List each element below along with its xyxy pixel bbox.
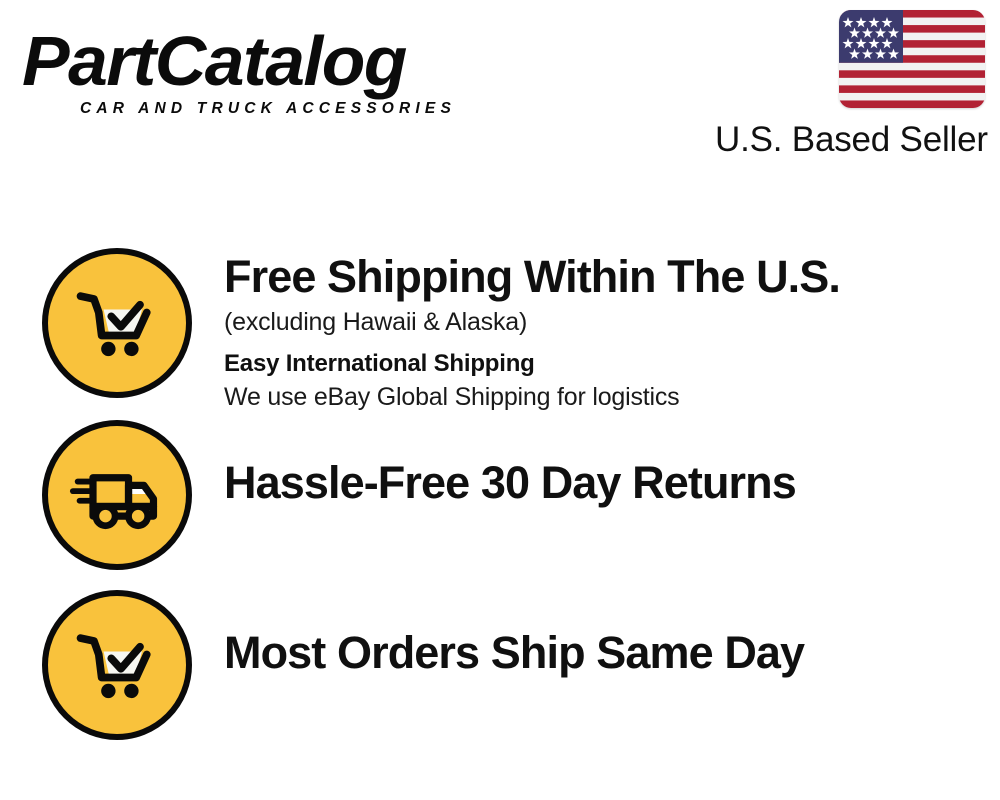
feature-text-block: Most Orders Ship Same Day: [192, 590, 1000, 680]
feature-text-block: Hassle-Free 30 Day Returns: [192, 420, 1000, 510]
feature-row: Most Orders Ship Same Day: [0, 590, 1000, 760]
feature-row: Free Shipping Within The U.S. (excluding…: [0, 248, 1000, 420]
feature-subtext: (excluding Hawaii & Alaska): [224, 304, 1000, 340]
shopping-cart-check-icon: [42, 590, 192, 740]
delivery-truck-icon: [42, 420, 192, 570]
us-based-seller-label: U.S. Based Seller: [715, 119, 985, 161]
partcatalog-logo: PartCatalog CAR AND TRUCK ACCESSORIES: [22, 24, 492, 119]
feature-subtext-secondary: We use eBay Global Shipping for logistic…: [224, 380, 1000, 414]
shopping-cart-check-icon: [42, 248, 192, 398]
feature-headline: Hassle-Free 30 Day Returns: [224, 456, 1000, 510]
feature-text-block: Free Shipping Within The U.S. (excluding…: [192, 248, 1000, 414]
banner-header: PartCatalog CAR AND TRUCK ACCESSORIES: [0, 0, 1000, 180]
us-based-seller-badge: U.S. Based Seller: [715, 10, 985, 161]
shipping-info-banner: PartCatalog CAR AND TRUCK ACCESSORIES: [0, 0, 1000, 800]
feature-subtext-bold: Easy International Shipping: [224, 348, 1000, 380]
feature-row: Hassle-Free 30 Day Returns: [0, 420, 1000, 590]
feature-headline: Most Orders Ship Same Day: [224, 626, 1000, 680]
feature-headline: Free Shipping Within The U.S.: [224, 250, 1000, 304]
us-flag-icon: [839, 10, 985, 108]
logo-wordmark-text: PartCatalog: [22, 24, 501, 98]
logo-tagline-text: CAR AND TRUCK ACCESSORIES: [80, 100, 456, 118]
